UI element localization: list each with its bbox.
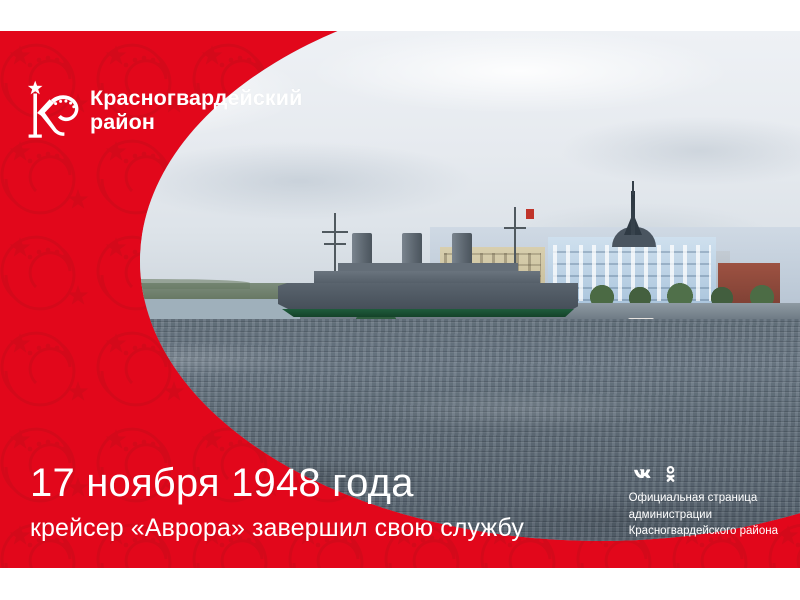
mast-yard-aft bbox=[504, 227, 526, 229]
social-text-line2: администрации bbox=[629, 507, 778, 524]
headline-block: 17 ноября 1948 года крейсер «Аврора» зав… bbox=[30, 463, 524, 543]
mast-yard-upper bbox=[322, 231, 348, 233]
social-text-line1: Официальная страница bbox=[629, 490, 778, 507]
social-text-line3: Красногвардейского района bbox=[629, 523, 778, 540]
building-spire bbox=[631, 191, 635, 235]
vk-icon[interactable] bbox=[629, 466, 655, 482]
naval-flag bbox=[526, 209, 534, 219]
ship-hull bbox=[278, 283, 578, 313]
district-logo[interactable]: Красногвардейский район bbox=[22, 79, 302, 141]
logo-text: Красногвардейский район bbox=[90, 86, 302, 134]
social-icons[interactable] bbox=[629, 466, 778, 483]
krasnogvardeysky-k-star-emblem bbox=[22, 79, 80, 141]
mast-yard-lower bbox=[324, 243, 346, 245]
headline-date: 17 ноября 1948 года bbox=[30, 463, 524, 503]
superstructure bbox=[314, 271, 540, 285]
spire-tip bbox=[632, 181, 634, 195]
logo-text-line2: район bbox=[90, 110, 302, 134]
social-text: Официальная страница администрации Красн… bbox=[629, 490, 778, 540]
social-block[interactable]: Официальная страница администрации Красн… bbox=[629, 466, 778, 540]
ship-waterline bbox=[282, 309, 574, 317]
logo-text-line1: Красногвардейский bbox=[90, 86, 302, 110]
cruiser-aurora bbox=[278, 227, 578, 323]
odnoklassniki-icon[interactable] bbox=[664, 466, 677, 483]
headline-description: крейсер «Аврора» завершил свою службу bbox=[30, 515, 524, 543]
social-media-card: Красногвардейский район 17 ноября 1948 г… bbox=[0, 31, 800, 568]
